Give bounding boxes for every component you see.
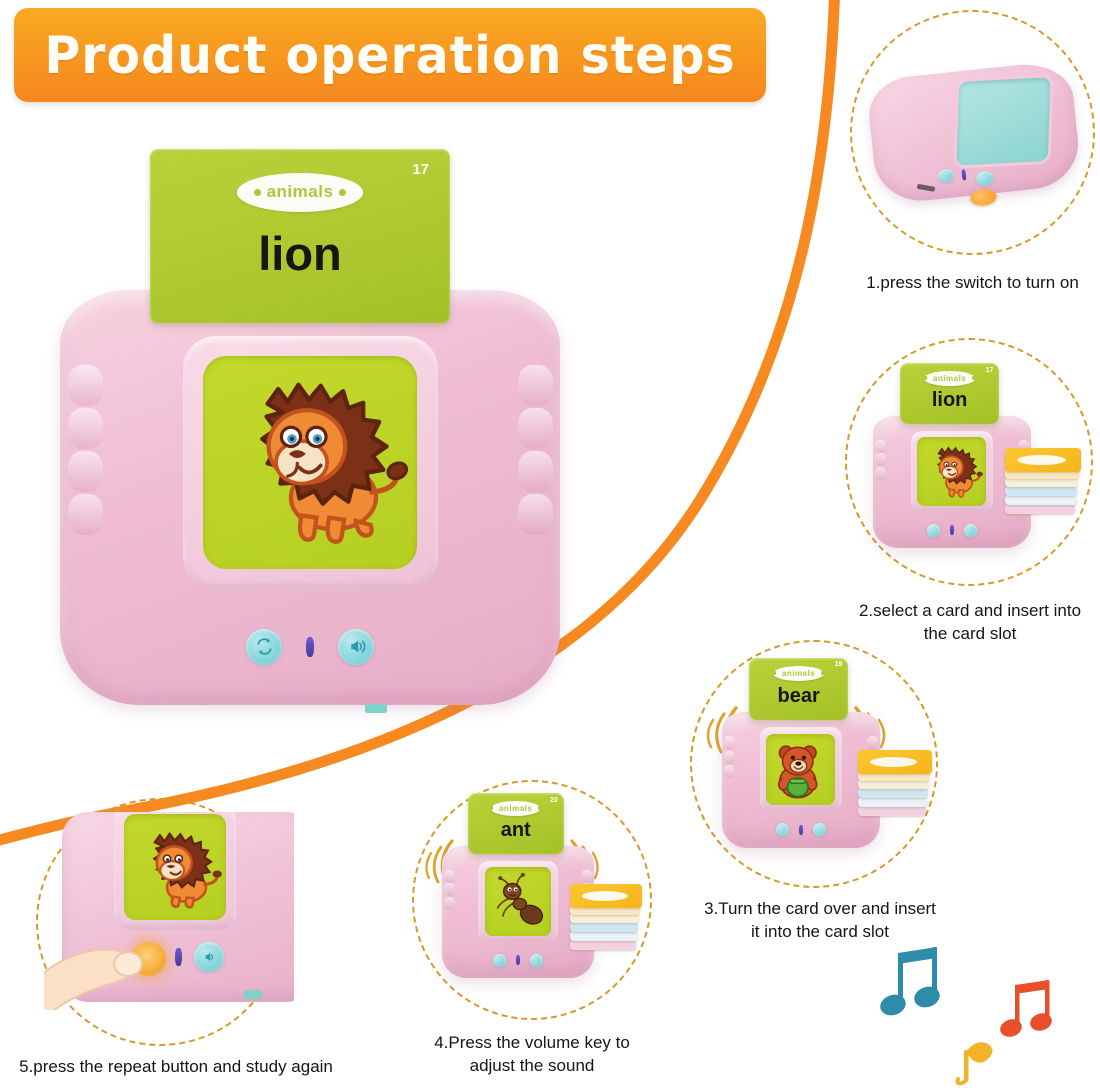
- step-4-indicator-light: [516, 955, 520, 965]
- step-4: animals ant 20 4.Press the volume key to…: [412, 780, 662, 1080]
- ant-illustration: [485, 867, 551, 936]
- device-screen-frame: [183, 336, 438, 589]
- step-3-repeat-button[interactable]: [776, 823, 789, 836]
- step-2-card-number: 17: [986, 367, 994, 374]
- step-2-volume-button[interactable]: [964, 524, 977, 537]
- step-4-caption-line-1: 4.Press the volume key to: [397, 1032, 667, 1055]
- card-pill-dot-right: [821, 671, 825, 675]
- power-indicator-light: [306, 637, 314, 657]
- step-2-card-brand-pill: animals: [924, 371, 976, 386]
- step-2-screen: [917, 437, 986, 506]
- card-pill-dot-right: [538, 806, 541, 810]
- step-4-ridges-left: [444, 870, 455, 947]
- step-1-caption: 1.press the switch to turn on: [840, 272, 1100, 295]
- stack-layer: [570, 940, 636, 950]
- step-3-card-brand-label: animals: [782, 669, 815, 678]
- device-ridges-left: [68, 365, 103, 606]
- card-word: lion: [258, 226, 342, 281]
- step-4-screen-frame: [478, 861, 557, 943]
- step-5-device: [44, 812, 294, 1022]
- step-4-caption: 4.Press the volume key to adjust the sou…: [397, 1032, 667, 1078]
- step-1-caption-line-1: 1.press the switch to turn on: [840, 272, 1100, 295]
- step-2-caption: 2.select a card and insert into the card…: [825, 600, 1100, 646]
- step-5-power-switch[interactable]: [244, 990, 262, 999]
- lion-illustration: [917, 437, 986, 506]
- step-2-card-brand-label: animals: [933, 374, 966, 383]
- step-3-caption-line-1: 3.Turn the card over and insert: [675, 898, 965, 921]
- finger-pressing-icon: [44, 920, 164, 1010]
- card-brand-pill: animals: [237, 173, 363, 211]
- step-4-card-brand-label: animals: [499, 804, 532, 813]
- device-ridges-right: [518, 365, 553, 606]
- step-4-flash-card[interactable]: animals ant 20: [468, 793, 564, 854]
- step-4-caption-line-2: adjust the sound: [397, 1055, 667, 1078]
- volume-icon: [201, 949, 217, 965]
- step-5: 5.press the repeat button and study agai…: [36, 798, 326, 1088]
- card-pill-dot-right: [339, 189, 346, 196]
- step-3-caption: 3.Turn the card over and insert it into …: [675, 898, 965, 944]
- stack-top-card: [570, 884, 642, 908]
- step-4-card-brand-pill: animals: [491, 801, 541, 816]
- step-3-indicator-light: [799, 825, 803, 835]
- stack-layer: [570, 922, 638, 932]
- step-5-caption: 5.press the repeat button and study agai…: [0, 1056, 356, 1079]
- music-note-beamed-red: [1000, 975, 1070, 1043]
- stack-layer: [1005, 495, 1077, 505]
- card-number: 17: [412, 161, 429, 178]
- step-3-card-stack[interactable]: [858, 750, 932, 828]
- step-5-screen-frame: [114, 812, 236, 930]
- device-power-switch[interactable]: [365, 704, 387, 713]
- volume-button[interactable]: [338, 629, 374, 665]
- step-2-ridges-left: [875, 440, 886, 517]
- repeat-button[interactable]: [246, 629, 282, 665]
- step-4-screen: [485, 867, 551, 936]
- step-5-indicator-light: [175, 948, 182, 966]
- step-3-card-word: bear: [778, 685, 820, 708]
- stack-layer: [858, 788, 928, 798]
- card-pill-dot-left: [491, 806, 494, 810]
- step-3-button-row: [771, 821, 831, 839]
- step-1-screen: [953, 74, 1053, 169]
- main-product-device: animals lion 17: [60, 290, 560, 705]
- infographic-stage: Product operation steps: [0, 0, 1100, 1087]
- step-2-card-stack[interactable]: [1005, 448, 1081, 526]
- device-button-row: [225, 618, 395, 676]
- card-pill-dot-left: [773, 671, 777, 675]
- stack-layer: [1005, 504, 1075, 514]
- step-3-device: animals bear 19: [722, 712, 880, 848]
- step-4-card-number: 20: [550, 797, 558, 804]
- volume-icon: [346, 636, 367, 657]
- step-3-screen: [766, 734, 835, 805]
- step-3-card-number: 19: [835, 661, 843, 668]
- step-3-flash-card[interactable]: animals bear 19: [749, 658, 849, 721]
- step-5-volume-button[interactable]: [194, 942, 224, 972]
- step-3-volume-button[interactable]: [813, 823, 826, 836]
- stack-layer: [570, 931, 638, 941]
- step-4-repeat-button[interactable]: [493, 954, 506, 967]
- music-note-beamed-blue: [880, 945, 960, 1023]
- card-pill-dot-left: [254, 189, 261, 196]
- card-pill-dot-right: [972, 376, 976, 380]
- stack-layer: [858, 806, 926, 816]
- step-2-card-word: lion: [932, 389, 968, 412]
- step-1-device: [865, 52, 1085, 223]
- music-note-single-yellow: [952, 1036, 998, 1088]
- lion-illustration: [124, 814, 226, 920]
- step-5-screen: [124, 814, 226, 920]
- step-4-card-word: ant: [501, 819, 531, 842]
- stack-top-card: [858, 750, 932, 774]
- stack-top-card: [1005, 448, 1081, 472]
- stack-layer: [858, 797, 928, 807]
- step-4-button-row: [489, 952, 547, 969]
- lion-illustration: [203, 356, 417, 569]
- step-2-indicator-light: [950, 525, 954, 535]
- step-4-card-stack[interactable]: [570, 884, 642, 962]
- step-2-screen-frame: [911, 431, 993, 513]
- step-3-screen-frame: [760, 727, 842, 811]
- step-3-caption-line-2: it into the card slot: [675, 921, 965, 944]
- step-2-caption-line-1: 2.select a card and insert into: [825, 600, 1100, 623]
- step-2-flash-card[interactable]: animals lion 17: [900, 363, 1000, 424]
- card-brand-label: animals: [267, 182, 334, 202]
- step-2-repeat-button[interactable]: [927, 524, 940, 537]
- card-pill-dot-left: [924, 376, 928, 380]
- step-2: animals lion 17 2.select a card and inse…: [845, 338, 1100, 638]
- bear-illustration: [766, 734, 835, 805]
- step-3-card-brand-pill: animals: [773, 666, 825, 681]
- step-3-ridges-left: [724, 736, 735, 815]
- step-1: 1.press the switch to turn on: [850, 10, 1095, 310]
- step-5-caption-line-1: 5.press the repeat button and study agai…: [0, 1056, 356, 1079]
- step-4-volume-button[interactable]: [530, 954, 543, 967]
- stack-layer: [1005, 486, 1077, 496]
- step-2-button-row: [922, 522, 982, 539]
- flash-card-lion[interactable]: animals lion 17: [150, 149, 450, 323]
- page-title: Product operation steps: [44, 29, 735, 81]
- step-3: animals bear 19 3.Turn the card over and…: [690, 640, 960, 940]
- page-title-banner: Product operation steps: [14, 8, 766, 102]
- device-screen: [203, 356, 417, 569]
- repeat-icon: [254, 636, 275, 657]
